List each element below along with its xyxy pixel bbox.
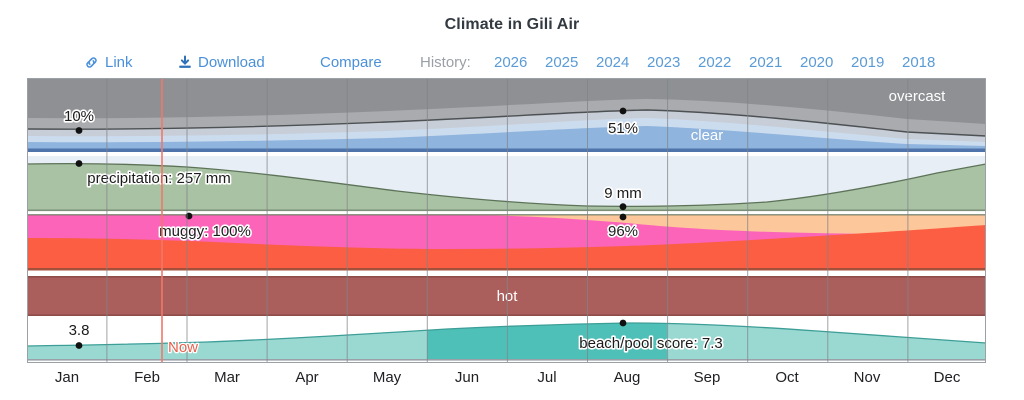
score-right-marker[interactable] bbox=[620, 320, 627, 327]
history-year-2019[interactable]: 2019 bbox=[851, 53, 884, 73]
month-label-feb: Feb bbox=[134, 368, 160, 388]
history-year-2025[interactable]: 2025 bbox=[545, 53, 578, 73]
score-right-value: beach/pool score: 7.3 bbox=[579, 335, 722, 352]
download-arrow-icon bbox=[178, 55, 192, 76]
climate-chart-page: Climate in Gili Air Link Download Compar… bbox=[0, 0, 1024, 400]
overcast-band-label: overcast bbox=[889, 88, 947, 105]
history-label: History: bbox=[420, 53, 471, 73]
temperature-topline bbox=[27, 276, 986, 278]
download-button[interactable]: Download bbox=[178, 53, 265, 73]
plot-svg[interactable]: overcast clear 10% 51% precipitation: 25… bbox=[27, 78, 986, 363]
history-year-2024[interactable]: 2024 bbox=[596, 53, 629, 73]
climate-plot[interactable]: overcast clear 10% 51% precipitation: 25… bbox=[27, 78, 986, 363]
month-label-oct: Oct bbox=[775, 368, 798, 388]
month-label-jun: Jun bbox=[455, 368, 479, 388]
month-label-aug: Aug bbox=[614, 368, 641, 388]
history-year-2018[interactable]: 2018 bbox=[902, 53, 935, 73]
muggy-right-value: 96% bbox=[608, 223, 638, 240]
clear-band-label: clear bbox=[691, 127, 724, 144]
score-left-marker[interactable] bbox=[76, 342, 83, 349]
humidity-baseline bbox=[27, 268, 986, 271]
month-axis: Jan Feb Mar Apr May Jun Jul Aug Sep Oct … bbox=[27, 368, 986, 392]
precip-left-value: precipitation: 257 mm bbox=[87, 170, 230, 187]
panel-precipitation[interactable]: precipitation: 257 mm 9 mm bbox=[27, 156, 986, 211]
now-label: Now bbox=[168, 339, 198, 356]
cloud-left-value: 10% bbox=[64, 108, 94, 125]
month-label-may: May bbox=[373, 368, 401, 388]
toolbar: Link Download Compare History: 2026 2025… bbox=[0, 53, 1024, 75]
history-year-2020[interactable]: 2020 bbox=[800, 53, 833, 73]
compare-button[interactable]: Compare bbox=[320, 53, 382, 73]
history-year-2026[interactable]: 2026 bbox=[494, 53, 527, 73]
score-left-value: 3.8 bbox=[69, 322, 90, 339]
panel-temperature[interactable]: hot bbox=[27, 276, 986, 316]
precip-baseline bbox=[27, 210, 986, 212]
history-year-2022[interactable]: 2022 bbox=[698, 53, 731, 73]
muggy-left-value: muggy: 100% bbox=[159, 223, 251, 240]
link-label: Link bbox=[105, 54, 133, 71]
cloud-left-marker[interactable] bbox=[76, 127, 83, 134]
muggy-right-marker[interactable] bbox=[620, 214, 627, 221]
panel-humidity[interactable]: muggy: 100% 96% bbox=[27, 213, 986, 271]
download-label: Download bbox=[198, 54, 265, 71]
cloud-right-value: 51% bbox=[608, 120, 638, 137]
cloud-right-marker[interactable] bbox=[620, 108, 627, 115]
precip-right-value: 9 mm bbox=[604, 185, 642, 202]
month-label-mar: Mar bbox=[214, 368, 240, 388]
history-year-2023[interactable]: 2023 bbox=[647, 53, 680, 73]
temperature-baseline bbox=[27, 314, 986, 316]
month-label-jul: Jul bbox=[537, 368, 556, 388]
precip-right-marker[interactable] bbox=[620, 203, 627, 210]
cloud-panel-baseline bbox=[27, 149, 986, 153]
precip-left-marker[interactable] bbox=[76, 160, 83, 167]
score-baseline bbox=[27, 359, 986, 361]
month-label-dec: Dec bbox=[934, 368, 961, 388]
link-chain-icon bbox=[84, 55, 99, 76]
month-label-jan: Jan bbox=[55, 368, 79, 388]
panel-cloud-cover[interactable]: overcast clear 10% 51% bbox=[27, 78, 986, 152]
link-button[interactable]: Link bbox=[84, 53, 133, 73]
history-year-2021[interactable]: 2021 bbox=[749, 53, 782, 73]
month-label-sep: Sep bbox=[694, 368, 721, 388]
humidity-topline bbox=[27, 214, 986, 215]
month-label-nov: Nov bbox=[854, 368, 881, 388]
month-label-apr: Apr bbox=[295, 368, 318, 388]
page-title: Climate in Gili Air bbox=[0, 16, 1024, 34]
